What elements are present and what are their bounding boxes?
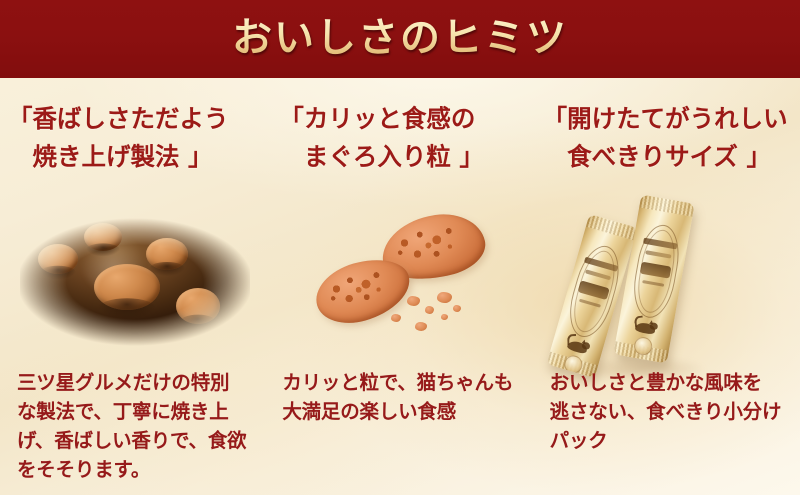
feature-column-texture: 「カリッと食感の まぐろ入り粒 」 カリッと粒で、猫ちゃんも 大満足の楽しい食感 [265,78,532,495]
cat-ear [649,320,654,325]
feature-column-portion: 「開けたてがうれしい 食べきりサイズ 」 [533,78,800,495]
broken-kibble-photo [303,210,515,350]
feature-columns: 「香ばしさただよう 焼き上げ製法 」 三ツ星グルメだけの特別 な製法で、丁寧に焼… [0,78,800,495]
kibble-piece [146,238,188,270]
crumb [441,314,448,320]
crumb [407,296,420,306]
column-body-text: カリッと粒で、猫ちゃんも 大満足の楽しい食感 [282,368,527,426]
column-body-text: おいしさと豊かな風味を 逃さない、食べきり小分け パック [550,368,790,455]
cat-tail [567,334,576,345]
header-band: おいしさのヒミツ [0,0,800,78]
crumb [453,305,461,312]
kibble-piece [94,264,160,310]
crumb [391,314,401,322]
column-heading: 「カリッと食感の まぐろ入り粒 」 [279,100,484,176]
cat-silhouette-icon [632,317,658,335]
feature-column-baking: 「香ばしさただよう 焼き上げ製法 」 三ツ星グルメだけの特別 な製法で、丁寧に焼… [0,78,265,495]
advertisement-page: おいしさのヒミツ 「香ばしさただよう 焼き上げ製法 」 三ツ星グルメだけの特別 … [0,0,800,495]
stick-pack [613,195,694,364]
column-body-text: 三ツ星グルメだけの特別 な製法で、丁寧に焼き上 げ、香ばしい香りで、食欲 をそそ… [17,368,257,484]
kibble-piece [176,288,220,324]
crimp-seal [639,195,694,217]
kibble-piece [38,244,78,274]
cat-tail [633,315,643,327]
crumb [415,322,427,331]
cat-silhouette-icon [564,335,591,355]
baked-kibble-photo [20,218,250,346]
page-title: おいしさのヒミツ [0,11,800,65]
crumb [437,292,452,303]
column-heading: 「香ばしさただよう 焼き上げ製法 」 [8,100,229,176]
kibble-piece [84,223,122,251]
column-heading: 「開けたてがうれしい 食べきりサイズ 」 [543,100,788,176]
crumb [425,306,434,314]
cat-ear [581,339,586,344]
crimp-seal [586,214,638,240]
stick-pack-photo [553,190,783,370]
